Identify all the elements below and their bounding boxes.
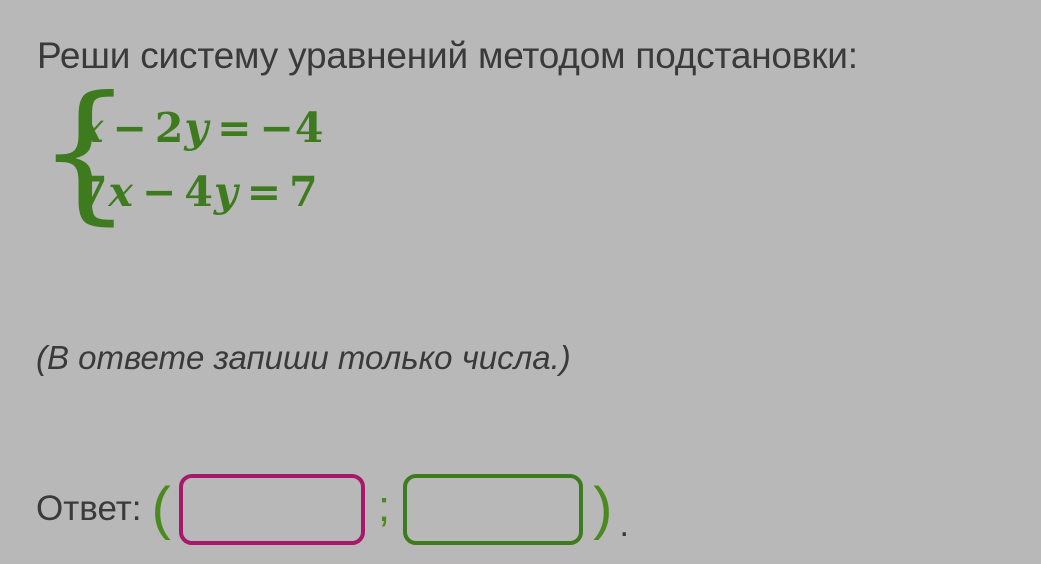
page-title: Реши систему уравнений методом подстанов… bbox=[37, 33, 858, 79]
equation-1-var-y: y bbox=[184, 104, 210, 152]
equation-2-rhs: 7 bbox=[289, 168, 319, 216]
answer-input-y[interactable] bbox=[403, 474, 583, 545]
equation-1-equals: = bbox=[210, 104, 259, 152]
equation-2-equals: = bbox=[240, 168, 289, 216]
equation-2-var-y: y bbox=[214, 168, 240, 216]
answer-separator: ; bbox=[378, 485, 390, 529]
answer-row: Ответ: ( ; ) . bbox=[36, 468, 629, 550]
equation-system: { x−2y=−4 7x−4y=7 bbox=[37, 100, 324, 216]
system-brace: { bbox=[37, 94, 79, 210]
open-paren: ( bbox=[152, 480, 171, 538]
equation-2-coefficient-y: 4 bbox=[184, 168, 214, 216]
answer-period: . bbox=[619, 507, 629, 542]
answer-format-hint: (В ответе запиши только числа.) bbox=[36, 337, 571, 379]
equation-2-operator: − bbox=[135, 168, 184, 216]
answer-label: Ответ: bbox=[36, 489, 142, 529]
close-paren: ) bbox=[593, 480, 612, 538]
answer-input-x[interactable] bbox=[179, 474, 365, 545]
task-page: Реши систему уравнений методом подстанов… bbox=[0, 0, 1041, 564]
equation-1-coefficient-y: 2 bbox=[155, 104, 185, 152]
equation-1-rhs: −4 bbox=[260, 104, 325, 152]
